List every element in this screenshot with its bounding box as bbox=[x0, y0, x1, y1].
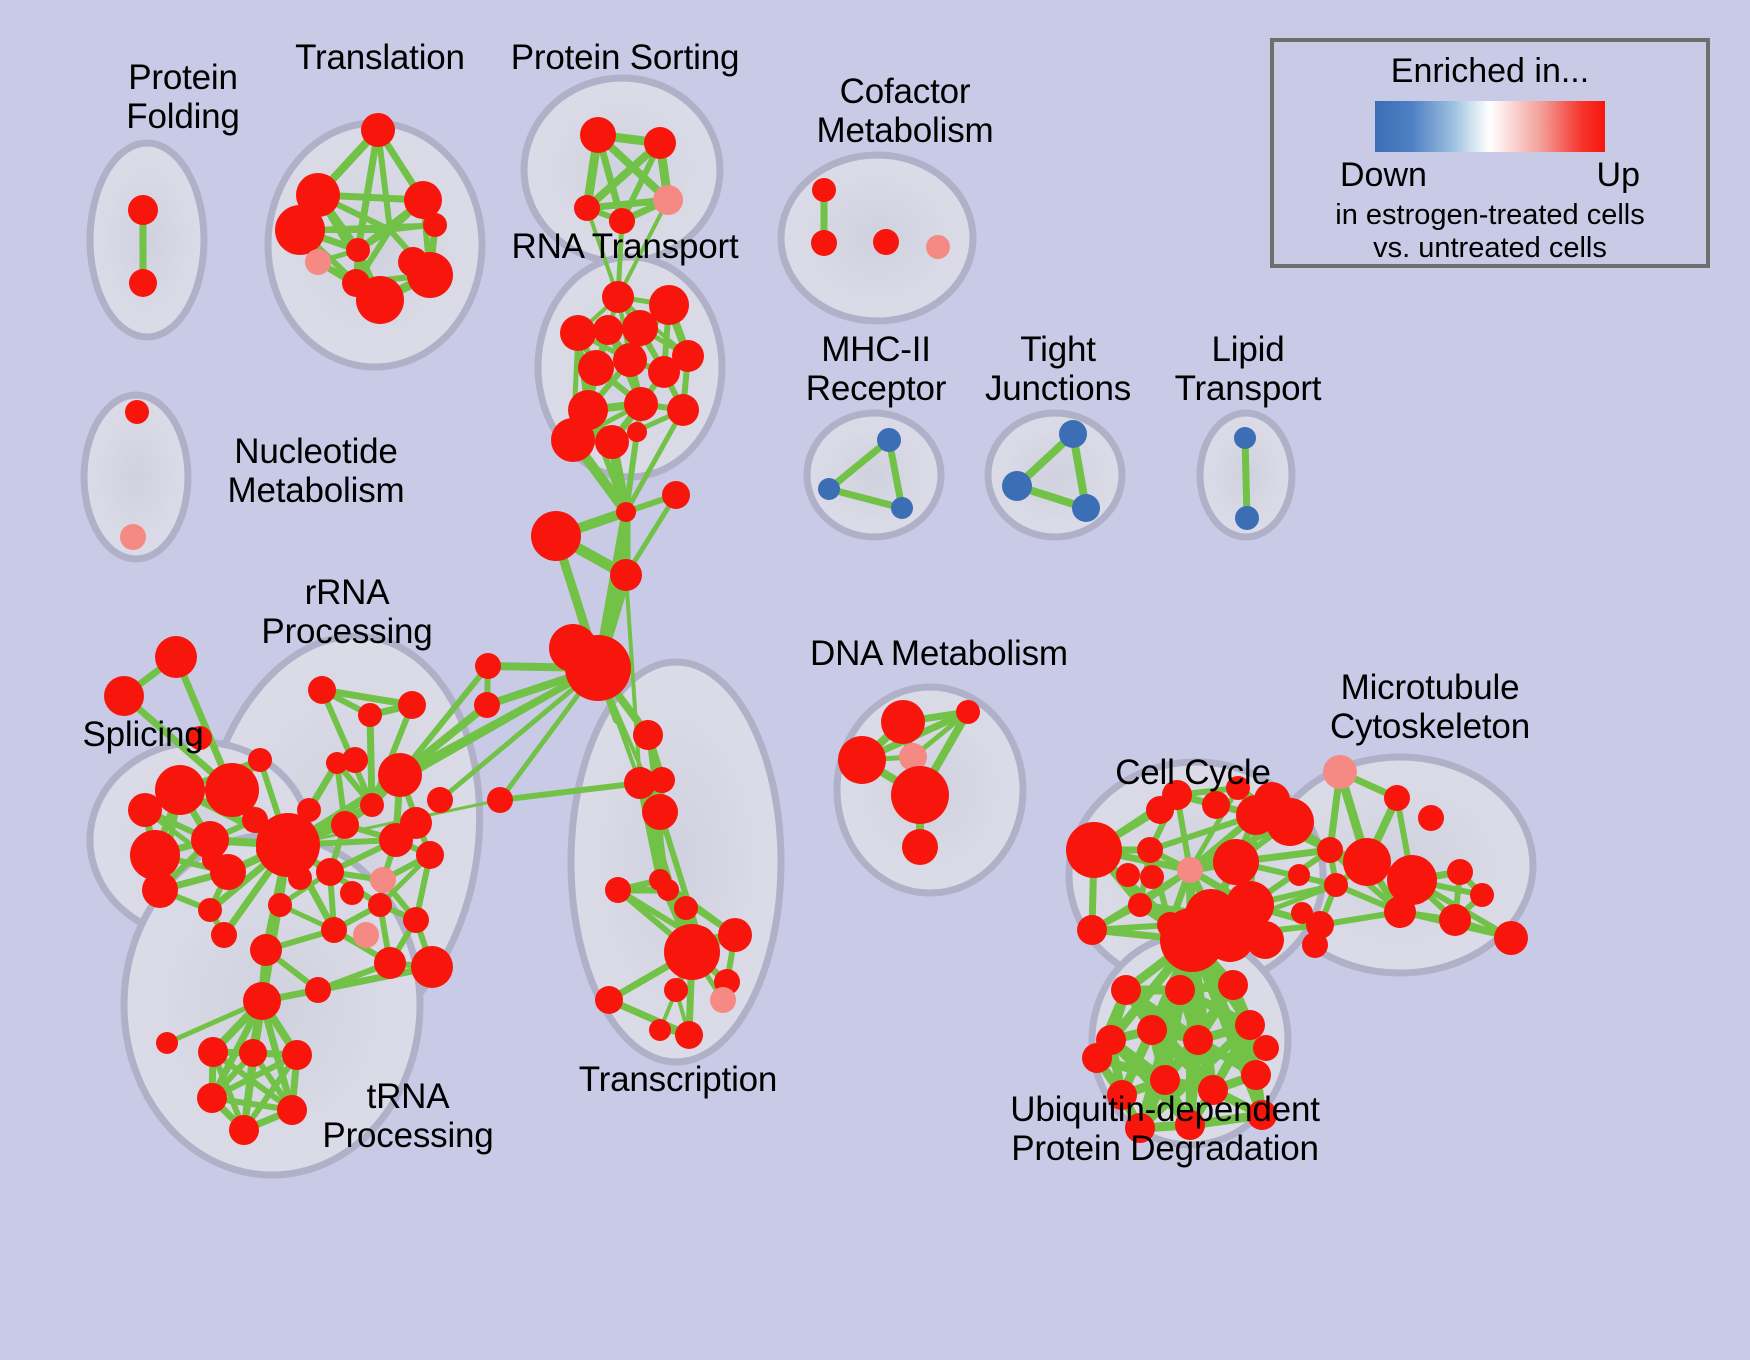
node bbox=[1072, 494, 1100, 522]
hull-mhc-ii-receptor bbox=[807, 413, 941, 537]
node bbox=[129, 269, 157, 297]
node bbox=[674, 896, 698, 920]
cluster-label-microtubule-cytoskeleton: Microtubule Cytoskeleton bbox=[1300, 668, 1560, 746]
node bbox=[1234, 427, 1256, 449]
node bbox=[368, 893, 392, 917]
node bbox=[250, 934, 282, 966]
cluster-label-translation: Translation bbox=[290, 38, 470, 77]
node bbox=[1324, 873, 1348, 897]
node bbox=[356, 276, 404, 324]
node bbox=[142, 872, 178, 908]
cluster-label-protein-folding: Protein Folding bbox=[78, 58, 288, 136]
cluster-label-ubiquitin-protein-degradation: Ubiquitin-dependent Protein Degradation bbox=[995, 1090, 1335, 1168]
node bbox=[128, 793, 162, 827]
node bbox=[305, 977, 331, 1003]
node bbox=[1343, 838, 1391, 886]
cluster-label-protein-sorting: Protein Sorting bbox=[505, 38, 745, 77]
node bbox=[1235, 1010, 1265, 1040]
node bbox=[321, 917, 347, 943]
node bbox=[1066, 822, 1122, 878]
node bbox=[1177, 857, 1203, 883]
cluster-label-cell-cycle: Cell Cycle bbox=[1098, 753, 1288, 792]
legend-panel: Enriched in... Down Up in estrogen-treat… bbox=[1270, 38, 1710, 268]
node bbox=[838, 736, 886, 784]
node bbox=[308, 676, 336, 704]
node bbox=[1082, 1043, 1112, 1073]
node bbox=[1384, 785, 1410, 811]
cluster-label-trna-processing: tRNA Processing bbox=[308, 1077, 508, 1155]
node bbox=[812, 178, 836, 202]
node bbox=[622, 310, 658, 346]
node bbox=[578, 350, 614, 386]
node bbox=[1146, 796, 1174, 824]
node bbox=[956, 700, 980, 724]
node bbox=[1059, 420, 1087, 448]
node bbox=[891, 497, 913, 519]
node bbox=[1002, 471, 1032, 501]
node bbox=[282, 1040, 312, 1070]
node bbox=[627, 422, 647, 442]
node bbox=[248, 748, 272, 772]
node bbox=[595, 425, 629, 459]
node bbox=[1323, 755, 1357, 789]
node bbox=[649, 1019, 671, 1041]
node bbox=[1418, 805, 1444, 831]
node bbox=[1470, 883, 1494, 907]
node bbox=[360, 793, 384, 817]
node bbox=[1137, 1015, 1167, 1045]
cluster-label-mhc-ii-receptor: MHC-II Receptor bbox=[786, 330, 966, 408]
node bbox=[595, 986, 623, 1014]
node bbox=[560, 315, 596, 351]
legend-high-label: Up bbox=[1597, 156, 1640, 195]
node bbox=[361, 113, 395, 147]
node bbox=[398, 691, 426, 719]
node bbox=[155, 636, 197, 678]
node bbox=[411, 946, 453, 988]
node bbox=[342, 747, 368, 773]
node bbox=[378, 753, 422, 797]
legend-caption: in estrogen-treated cells vs. untreated … bbox=[1335, 199, 1645, 264]
node bbox=[902, 829, 938, 865]
node bbox=[155, 765, 205, 815]
node bbox=[891, 766, 949, 824]
node bbox=[613, 343, 647, 377]
cluster-label-rna-transport: RNA Transport bbox=[505, 227, 745, 266]
node bbox=[531, 511, 581, 561]
node bbox=[580, 117, 616, 153]
node bbox=[718, 918, 752, 952]
node bbox=[346, 238, 370, 262]
node bbox=[877, 428, 901, 452]
node bbox=[198, 898, 222, 922]
node bbox=[873, 229, 899, 255]
node bbox=[1116, 863, 1140, 887]
node bbox=[407, 252, 453, 298]
legend-caption-line-2: vs. untreated cells bbox=[1335, 232, 1645, 264]
cluster-label-nucleotide-metabolism: Nucleotide Metabolism bbox=[196, 432, 436, 510]
node bbox=[316, 858, 344, 886]
node bbox=[1111, 975, 1141, 1005]
node bbox=[211, 922, 237, 948]
node bbox=[487, 787, 513, 813]
node bbox=[1494, 921, 1528, 955]
node bbox=[610, 559, 642, 591]
node bbox=[1241, 1060, 1271, 1090]
node bbox=[353, 922, 379, 948]
node bbox=[277, 1095, 307, 1125]
node bbox=[675, 1021, 703, 1049]
node bbox=[400, 807, 432, 839]
node bbox=[644, 127, 676, 159]
node bbox=[593, 315, 623, 345]
edges-lipid-transport bbox=[1245, 438, 1247, 518]
node bbox=[1235, 506, 1259, 530]
node bbox=[268, 893, 292, 917]
legend-endpoints: Down Up bbox=[1340, 156, 1640, 195]
node bbox=[926, 235, 950, 259]
node bbox=[1253, 1035, 1279, 1061]
node bbox=[667, 394, 699, 426]
node bbox=[1384, 896, 1416, 928]
node bbox=[416, 841, 444, 869]
node bbox=[1213, 839, 1259, 885]
node bbox=[297, 798, 321, 822]
node bbox=[616, 502, 636, 522]
node bbox=[423, 213, 447, 237]
node bbox=[198, 1037, 228, 1067]
node bbox=[256, 813, 320, 877]
node bbox=[818, 478, 840, 500]
legend-low-label: Down bbox=[1340, 156, 1427, 195]
hull-protein-folding bbox=[90, 143, 204, 337]
node bbox=[1439, 904, 1471, 936]
node bbox=[1206, 914, 1254, 962]
node bbox=[370, 867, 396, 893]
node bbox=[642, 794, 678, 830]
cluster-label-cofactor-metabolism: Cofactor Metabolism bbox=[790, 72, 1020, 150]
node bbox=[653, 185, 683, 215]
node bbox=[605, 877, 631, 903]
network-figure: Protein Folding Translation Protein Sort… bbox=[0, 0, 1750, 1360]
node bbox=[340, 881, 364, 905]
node bbox=[475, 653, 501, 679]
node bbox=[358, 703, 382, 727]
cluster-label-rrna-processing: rRNA Processing bbox=[252, 573, 442, 651]
cluster-label-tight-junctions: Tight Junctions bbox=[968, 330, 1148, 408]
node bbox=[474, 692, 500, 718]
node bbox=[197, 1083, 227, 1113]
node bbox=[1140, 865, 1164, 889]
node bbox=[1128, 893, 1152, 917]
node bbox=[130, 830, 180, 880]
cluster-label-lipid-transport: Lipid Transport bbox=[1158, 330, 1338, 408]
node bbox=[1202, 791, 1230, 819]
node bbox=[1317, 837, 1343, 863]
node bbox=[1447, 859, 1473, 885]
node bbox=[664, 978, 688, 1002]
node bbox=[624, 767, 656, 799]
node bbox=[128, 195, 158, 225]
node bbox=[125, 400, 149, 424]
node bbox=[1288, 864, 1310, 886]
node bbox=[403, 907, 429, 933]
node bbox=[120, 524, 146, 550]
cluster-label-splicing: Splicing bbox=[58, 715, 228, 754]
node bbox=[104, 676, 144, 716]
node bbox=[374, 947, 406, 979]
node bbox=[672, 340, 704, 372]
cluster-label-dna-metabolism: DNA Metabolism bbox=[810, 634, 1060, 673]
node bbox=[202, 849, 224, 871]
node bbox=[811, 230, 837, 256]
cluster-label-transcription: Transcription bbox=[568, 1060, 788, 1099]
node bbox=[602, 281, 634, 313]
node bbox=[288, 866, 312, 890]
legend-color-bar bbox=[1375, 101, 1605, 152]
node bbox=[657, 879, 679, 901]
node bbox=[549, 624, 597, 672]
node bbox=[624, 387, 658, 421]
node bbox=[229, 1115, 259, 1145]
node bbox=[1137, 837, 1163, 863]
node bbox=[1306, 911, 1334, 939]
node bbox=[1218, 970, 1248, 1000]
legend-title: Enriched in... bbox=[1391, 52, 1589, 91]
node bbox=[1165, 975, 1195, 1005]
node bbox=[664, 924, 720, 980]
node bbox=[427, 787, 453, 813]
node bbox=[1077, 915, 1107, 945]
node bbox=[243, 982, 281, 1020]
node bbox=[710, 987, 736, 1013]
node bbox=[1183, 1025, 1213, 1055]
node bbox=[156, 1032, 178, 1054]
node bbox=[331, 811, 359, 839]
node bbox=[305, 249, 331, 275]
node bbox=[574, 195, 600, 221]
node bbox=[662, 481, 690, 509]
legend-caption-line-1: in estrogen-treated cells bbox=[1335, 199, 1645, 231]
node bbox=[239, 1039, 267, 1067]
node bbox=[881, 700, 925, 744]
node bbox=[275, 205, 325, 255]
node bbox=[551, 418, 595, 462]
node bbox=[633, 720, 663, 750]
